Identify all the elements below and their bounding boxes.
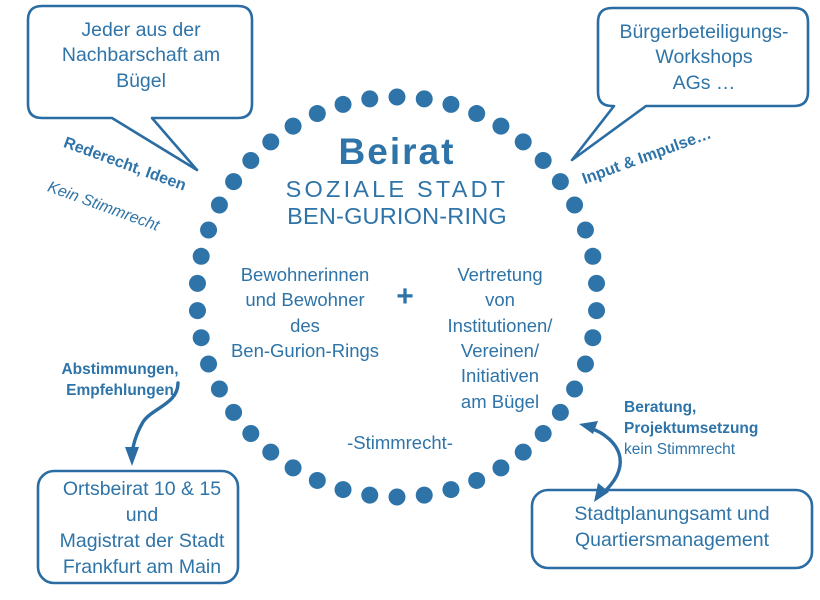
ring-dot <box>225 404 242 421</box>
box-text-ortsbeirat-magistrat: Ortsbeirat 10 & 15 und Magistrat der Sta… <box>42 477 242 581</box>
arrow-label-beratung-bold: Beratung, Projektumsetzung <box>624 398 804 440</box>
ring-dot <box>242 425 259 442</box>
ring-dot <box>416 487 433 504</box>
ring-dot <box>588 275 605 292</box>
ring-dot <box>335 96 352 113</box>
tail-label-input-impulse: Input & Impulse… <box>580 100 783 189</box>
ring-dot <box>577 222 594 239</box>
arrow-label-abstimmungen: Abstimmungen, Empfehlungen <box>40 360 200 402</box>
box-text-stadtplanungsamt: Stadtplanungsamt und Quartiersmanagement <box>534 502 810 554</box>
ring-dot <box>200 355 217 372</box>
ring-dot <box>361 90 378 107</box>
ring-dot <box>584 248 601 265</box>
page-subtitle-line2: BEN-GURION-RING <box>247 202 547 231</box>
bubble-text-top-left: Jeder aus der Nachbarschaft am Bügel <box>36 18 246 94</box>
ring-dot <box>566 196 583 213</box>
voting-rights-note: -Stimmrecht- <box>320 432 480 455</box>
plus-icon: + <box>390 279 420 316</box>
ring-dot <box>335 481 352 498</box>
ring-dot <box>468 472 485 489</box>
ring-dot <box>309 105 326 122</box>
ring-dot <box>588 302 605 319</box>
arrow-label-beratung: Beratung, Projektumsetzung kein Stimmrec… <box>624 398 804 461</box>
ring-dot <box>262 444 279 461</box>
arrow-right-bidirectional <box>579 421 620 502</box>
ring-dot <box>515 444 532 461</box>
member-group-institutions: Vertretung von Institutionen/ Vereinen/ … <box>424 262 576 414</box>
ring-dot <box>492 459 509 476</box>
ring-dot <box>584 329 601 346</box>
ring-dot <box>211 381 228 398</box>
diagram-canvas: Jeder aus der Nachbarschaft am Bügel Red… <box>0 0 820 600</box>
page-subtitle-line1: SOZIALE STADT <box>247 175 547 204</box>
ring-dot <box>552 173 569 190</box>
ring-dot <box>193 329 210 346</box>
arrow-label-beratung-normal: kein Stimmrecht <box>624 440 804 461</box>
ring-dot <box>468 105 485 122</box>
tail-label-rederecht: Rederecht, Ideen Kein Stimmrecht <box>36 110 264 287</box>
page-title: Beirat <box>247 129 547 174</box>
ring-dot <box>535 425 552 442</box>
ring-dot <box>389 489 406 506</box>
ring-dot <box>577 355 594 372</box>
ring-dot <box>416 90 433 107</box>
ring-dot <box>389 89 406 106</box>
ring-dot <box>361 487 378 504</box>
bubble-text-top-right: Bürgerbeteiligungs- Workshops AGs … <box>604 20 804 96</box>
ring-dot <box>189 302 206 319</box>
ring-dot <box>442 96 459 113</box>
member-group-residents: Bewohnerinnen und Bewohner des Ben-Gurio… <box>216 262 394 363</box>
ring-dot <box>309 472 326 489</box>
ring-dot <box>442 481 459 498</box>
ring-dot <box>285 459 302 476</box>
